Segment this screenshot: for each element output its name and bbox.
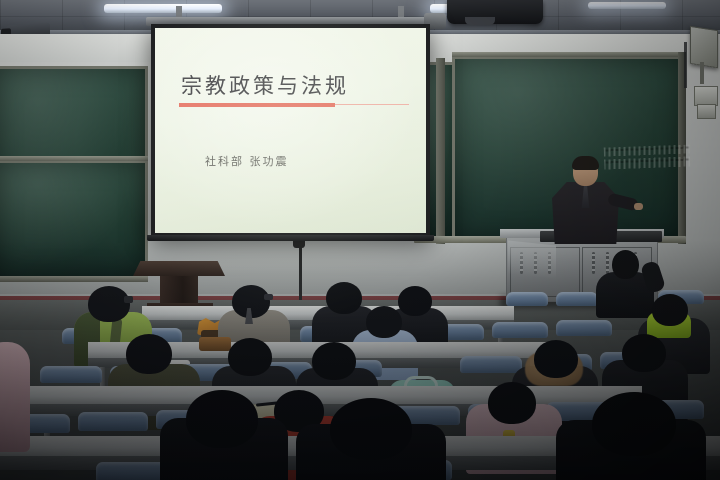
wall-outlet-plate: [694, 86, 718, 106]
lectern-column: [160, 276, 198, 304]
student-head: [326, 282, 362, 314]
ceiling-projector-icon: [447, 0, 543, 24]
screen-weight-bar: [147, 235, 434, 241]
backpack-handle: [404, 376, 438, 386]
speaker-bracket: [700, 62, 704, 84]
student-head: [126, 334, 172, 374]
blackboard-rail: [0, 156, 148, 161]
student-head: [612, 250, 639, 279]
blackboard-frame-post: [436, 58, 445, 244]
seat-back: [492, 322, 548, 338]
student-head: [398, 286, 432, 316]
student-head: [592, 392, 676, 456]
blackboard-sheen: [0, 163, 145, 277]
seat-back: [40, 366, 102, 383]
student-head: [488, 382, 536, 424]
seat-back: [556, 292, 598, 306]
seat-back: [78, 412, 148, 431]
console-side-wing: [508, 240, 556, 279]
student-head: [622, 334, 666, 372]
student-head: [330, 398, 412, 460]
slide-surface: 宗教政策与法规 社科部 张功震: [155, 28, 426, 233]
slide-title: 宗教政策与法规: [181, 70, 349, 100]
fluorescent-light-icon: [588, 2, 666, 9]
lecturer-hand: [634, 203, 643, 210]
seat-back: [506, 292, 548, 306]
student-torso: [0, 342, 30, 452]
console-vent: [606, 252, 609, 274]
lecture-hall-photo: 宗教政策与法规 社科部 张功震: [0, 0, 720, 480]
eyeglasses-icon: [264, 294, 273, 300]
student-head: [652, 294, 688, 326]
chalk-tray-left: [0, 276, 148, 282]
slide-accent-rule-thin: [335, 104, 409, 105]
projection-screen: 宗教政策与法规 社科部 张功震: [151, 24, 430, 237]
lecturer-hair: [572, 156, 599, 170]
wall-cable: [299, 240, 302, 302]
fluorescent-light-icon: [104, 4, 222, 13]
chalk-writing: [604, 145, 691, 174]
brown-bag: [199, 337, 231, 351]
seat-back: [556, 320, 612, 336]
lectern-top: [133, 261, 225, 276]
console-vent: [592, 252, 595, 274]
student-head: [228, 338, 272, 376]
slide-subtitle: 社科部 张功震: [205, 153, 289, 169]
blackboard-top-rail: [452, 52, 684, 57]
wall-speaker-icon: [690, 26, 718, 68]
seat-back: [460, 356, 522, 373]
slide-accent-rule: [179, 103, 335, 107]
student-head: [186, 390, 258, 448]
student-head: [366, 306, 402, 338]
student-head: [312, 342, 356, 380]
student-head: [88, 286, 130, 322]
screen-glow: [155, 28, 426, 233]
speaker-cable: [684, 42, 687, 88]
student-head: [534, 340, 578, 378]
wall-switch-plate: [697, 104, 716, 119]
blackboard-left-lower: [0, 160, 148, 280]
eyeglasses-icon: [124, 296, 133, 303]
